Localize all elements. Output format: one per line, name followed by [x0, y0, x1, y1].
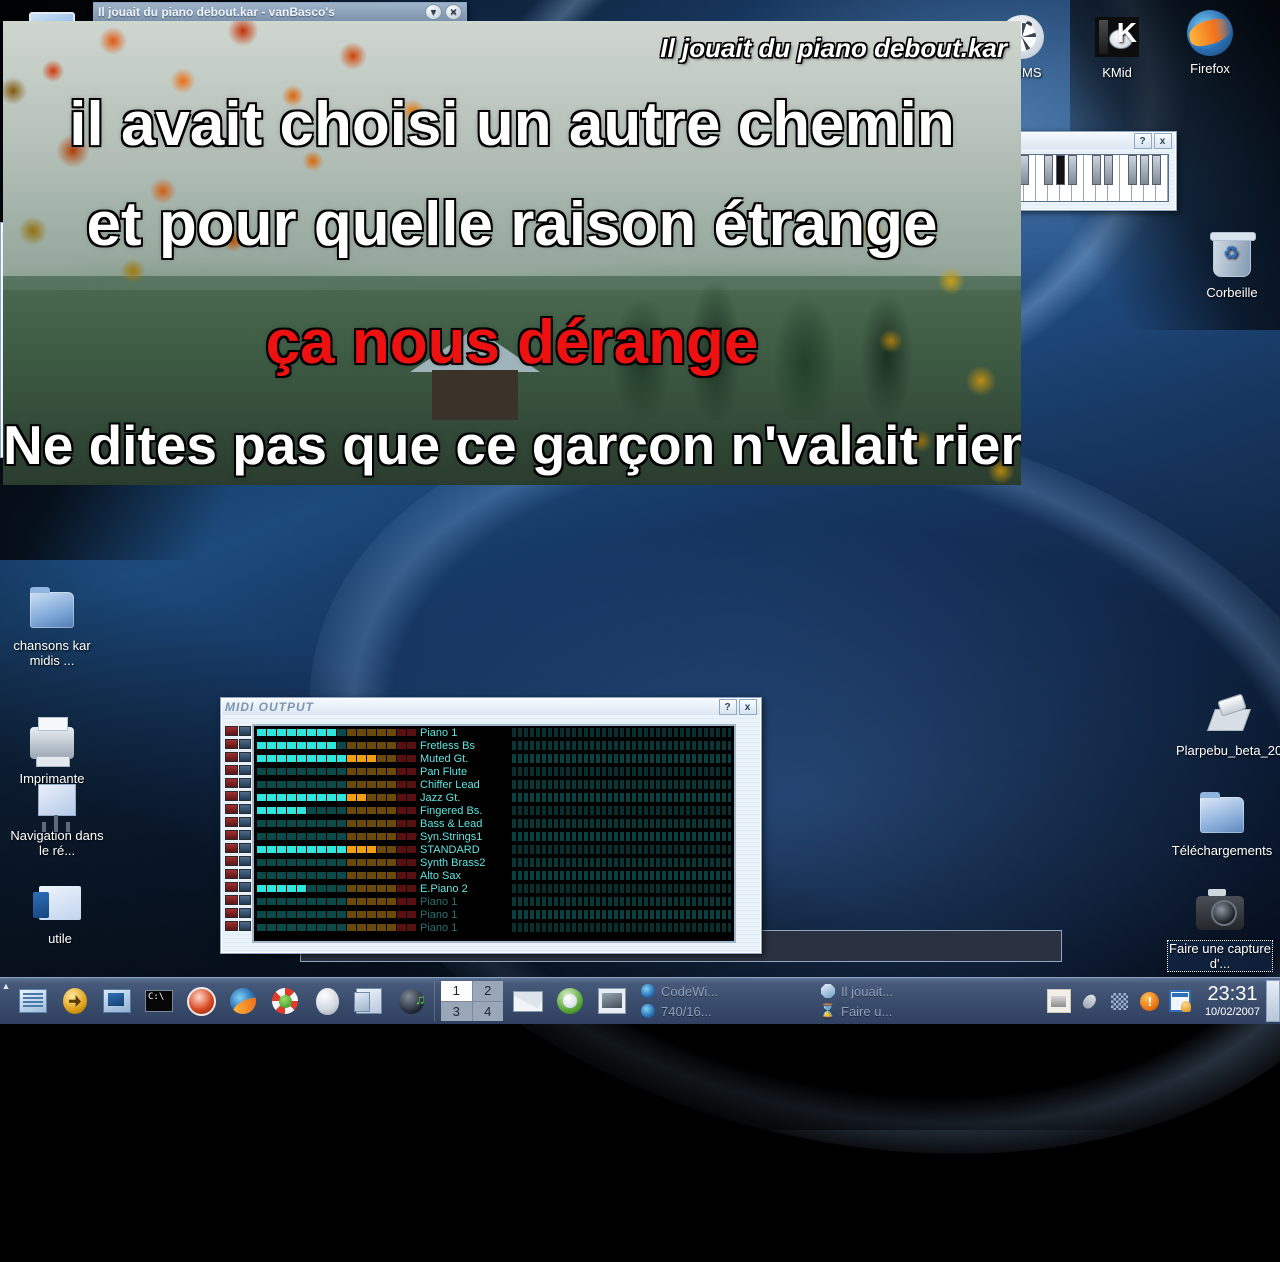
midi-channel-buttons[interactable]	[225, 815, 251, 828]
midi-channel-controls[interactable]	[225, 724, 251, 932]
firefox-icon	[639, 1003, 657, 1019]
midi-mute-button[interactable]	[225, 921, 238, 931]
midi-level-led	[287, 911, 296, 918]
midi-solo-button[interactable]	[239, 739, 252, 749]
desktop-icon-label: Firefox	[1158, 61, 1262, 76]
midi-channel-buttons[interactable]	[225, 854, 251, 867]
folder-icon	[8, 878, 112, 928]
midi-level-led	[287, 729, 296, 736]
desktop-icon-label: Corbeille	[1180, 285, 1280, 300]
midi-level-led	[397, 742, 406, 749]
midi-mute-button[interactable]	[225, 739, 238, 749]
midi-level-led	[407, 833, 416, 840]
midi-mute-button[interactable]	[225, 830, 238, 840]
lyric-line-4: Ne dites pas que ce garçon n'valait rien	[3, 413, 1021, 477]
midi-level-led	[277, 742, 286, 749]
midi-level-led	[377, 846, 386, 853]
midi-level-led	[267, 911, 276, 918]
midi-level-led	[307, 859, 316, 866]
piano-black-key[interactable]	[1020, 155, 1029, 185]
midi-level-led	[367, 833, 376, 840]
midi-channel-row: Fretless Bs	[254, 739, 734, 752]
midi-activity-graph	[512, 728, 731, 737]
midi-channel-row: Alto Sax	[254, 869, 734, 882]
midi-level-led	[357, 846, 366, 853]
midi-level-led	[347, 911, 356, 918]
midi-solo-button[interactable]	[239, 804, 252, 814]
midi-level-led	[277, 833, 286, 840]
midi-solo-button[interactable]	[239, 869, 252, 879]
midi-level-led	[387, 755, 396, 762]
midi-channel-buttons[interactable]	[225, 789, 251, 802]
midi-level-led	[327, 911, 336, 918]
printer-icon	[0, 718, 104, 768]
calendar-alarm-tray-icon[interactable]	[1169, 990, 1191, 1012]
midi-channel-row: E.Piano 2	[254, 882, 734, 895]
midi-level-led	[337, 859, 346, 866]
midi-level-led	[277, 924, 286, 931]
piano-black-key[interactable]	[1152, 155, 1161, 185]
midi-level-led	[337, 781, 346, 788]
midi-level-led	[407, 807, 416, 814]
midi-activity-graph	[512, 754, 731, 763]
midi-level-led	[387, 911, 396, 918]
midi-level-led	[367, 755, 376, 762]
midi-level-led	[257, 781, 266, 788]
camera-icon	[1168, 888, 1272, 938]
midi-level-led	[377, 820, 386, 827]
midi-level-led	[377, 924, 386, 931]
midi-channel-row: Muted Gt.	[254, 752, 734, 765]
midi-level-led	[407, 742, 416, 749]
midi-level-led	[367, 846, 376, 853]
midi-level-led	[377, 885, 386, 892]
task-button-740-16[interactable]: 740/16...	[639, 1003, 819, 1019]
midi-solo-button[interactable]	[239, 726, 252, 736]
midi-level-led	[337, 755, 346, 762]
midi-level-led	[257, 742, 266, 749]
midi-channel-row: Jazz Gt.	[254, 791, 734, 804]
task-button-faire-une-capture[interactable]: ⌛ Faire u...	[819, 1003, 999, 1019]
midi-mute-button[interactable]	[225, 908, 238, 918]
file-manager-icon[interactable]	[15, 983, 51, 1019]
midi-level-led	[257, 833, 266, 840]
midi-level-led	[267, 898, 276, 905]
midi-level-led	[387, 833, 396, 840]
taskbar-clock[interactable]: 23:31 10/02/2007	[1205, 984, 1260, 1018]
midi-level-led	[267, 807, 276, 814]
midi-level-led	[337, 872, 346, 879]
midi-activity-graph	[512, 793, 731, 802]
midi-channel-name: Piano 1	[420, 909, 512, 921]
desktop-icon-label: utile	[8, 931, 112, 946]
midi-level-led	[347, 859, 356, 866]
taskbar: ▲ C:\ ♫	[0, 977, 1280, 1024]
desktop-icon-plarpebu[interactable]: Plarpebu_beta_20	[1176, 690, 1280, 758]
kde-globe-icon[interactable]	[552, 983, 588, 1019]
desktop-icon-navigation-reseau[interactable]: Navigation dans le ré...	[5, 775, 109, 858]
midi-mute-button[interactable]	[225, 843, 238, 853]
midi-level-led	[277, 729, 286, 736]
midi-level-led	[337, 911, 346, 918]
task-label: CodeWi...	[661, 984, 718, 999]
stage-foliage-left	[3, 21, 513, 331]
midi-level-led	[287, 768, 296, 775]
midi-level-led	[367, 742, 376, 749]
piano-black-key[interactable]	[1056, 155, 1065, 185]
midi-mute-button[interactable]	[225, 726, 238, 736]
midi-level-led	[287, 807, 296, 814]
midi-level-led	[407, 911, 416, 918]
midi-level-led	[387, 898, 396, 905]
midi-level-led	[277, 911, 286, 918]
midi-level-led	[357, 859, 366, 866]
midi-channel-buttons[interactable]	[225, 841, 251, 854]
midi-level-led	[267, 872, 276, 879]
piano-black-key[interactable]	[1092, 155, 1101, 185]
midi-level-led	[337, 742, 346, 749]
midi-channel-buttons[interactable]	[225, 776, 251, 789]
midi-level-led	[387, 846, 396, 853]
printer-tray-icon[interactable]	[1047, 989, 1071, 1013]
firefox-icon	[639, 983, 657, 999]
midi-channel-buttons[interactable]	[225, 763, 251, 776]
midi-level-led	[297, 846, 306, 853]
midi-level-led	[287, 859, 296, 866]
midi-level-led	[327, 872, 336, 879]
midi-solo-button[interactable]	[239, 895, 252, 905]
midi-level-led	[347, 729, 356, 736]
close-button[interactable]: ✕	[445, 4, 462, 20]
desktop-pager[interactable]: 1 2 3 4	[441, 981, 503, 1021]
midi-level-led	[317, 924, 326, 931]
midi-level-led	[377, 911, 386, 918]
network-tray-icon[interactable]	[1109, 990, 1131, 1012]
midi-channel-buttons[interactable]	[225, 893, 251, 906]
midi-channel-buttons[interactable]	[225, 737, 251, 750]
midi-level-led	[307, 911, 316, 918]
midi-level-led	[267, 742, 276, 749]
midi-output-window[interactable]: MIDI OUTPUT ? x Piano 1Fretless BsMuted …	[220, 697, 762, 954]
midi-level-led	[377, 807, 386, 814]
midi-level-led	[307, 872, 316, 879]
piano-black-key[interactable]	[1140, 155, 1149, 185]
desktop-icon-corbeille[interactable]: Corbeille	[1180, 232, 1280, 300]
firefox-icon[interactable]	[225, 983, 261, 1019]
task-label: 740/16...	[661, 1004, 712, 1019]
clock-date: 10/02/2007	[1205, 1007, 1260, 1018]
midi-mute-button[interactable]	[225, 752, 238, 762]
piano-black-key[interactable]	[1068, 155, 1077, 185]
midi-level-led	[297, 833, 306, 840]
close-button[interactable]: x	[1154, 133, 1172, 149]
midi-level-led	[387, 781, 396, 788]
midi-level-led	[397, 807, 406, 814]
midi-level-led	[377, 729, 386, 736]
taskbar-task-list: CodeWi... Il jouait... 740/16... ⌛ Faire…	[633, 981, 1043, 1021]
midi-level-led	[327, 820, 336, 827]
documents-icon[interactable]	[351, 983, 387, 1019]
midi-level-led	[277, 885, 286, 892]
egg-icon[interactable]	[309, 983, 345, 1019]
midi-level-led	[387, 924, 396, 931]
midi-level-led	[357, 872, 366, 879]
folder-icon	[1170, 790, 1274, 840]
midi-channel-row: Piano 1	[254, 726, 734, 739]
piano-black-key[interactable]	[1128, 155, 1137, 185]
kmid-icon: K	[1065, 12, 1169, 62]
midi-level-led	[377, 755, 386, 762]
midi-level-led	[267, 833, 276, 840]
midi-channel-buttons[interactable]	[225, 880, 251, 893]
midi-level-meter	[256, 924, 416, 931]
alert-tray-icon[interactable]: !	[1139, 990, 1161, 1012]
audio-player-icon[interactable]: ♫	[393, 983, 429, 1019]
network-icon	[5, 775, 109, 825]
midi-level-led	[397, 885, 406, 892]
mail-icon[interactable]	[510, 983, 546, 1019]
midi-level-meter	[256, 898, 416, 905]
midi-level-led	[337, 833, 346, 840]
midi-level-led	[307, 898, 316, 905]
amber-orb-icon[interactable]	[57, 983, 93, 1019]
midi-solo-button[interactable]	[239, 921, 252, 931]
midi-channel-display: Piano 1Fretless BsMuted Gt.Pan FluteChif…	[252, 724, 736, 943]
midi-channel-buttons[interactable]	[225, 919, 251, 932]
midi-level-led	[287, 742, 296, 749]
midi-channel-name: Pan Flute	[420, 766, 512, 778]
midi-level-led	[327, 807, 336, 814]
player-titlebar[interactable]: Il jouait du piano debout.kar - vanBasco…	[94, 3, 466, 21]
midi-level-led	[257, 820, 266, 827]
midi-mute-button[interactable]	[225, 856, 238, 866]
midi-channel-buttons[interactable]	[225, 867, 251, 880]
midi-level-led	[397, 859, 406, 866]
midi-activity-graph	[512, 897, 731, 906]
midi-level-led	[257, 872, 266, 879]
midi-level-led	[257, 729, 266, 736]
lyric-line-3-active: ça nous dérange	[3, 311, 1021, 375]
trash-icon	[1180, 232, 1280, 282]
midi-channel-name: Syn.Strings1	[420, 831, 512, 843]
midi-level-led	[347, 833, 356, 840]
pager-desktop-2[interactable]: 2	[473, 981, 504, 1001]
close-button[interactable]: x	[739, 699, 757, 715]
midi-level-led	[307, 885, 316, 892]
midi-level-led	[337, 729, 346, 736]
midi-level-meter	[256, 729, 416, 736]
midi-level-led	[257, 794, 266, 801]
midi-level-led	[397, 781, 406, 788]
midi-level-led	[287, 846, 296, 853]
midi-solo-button[interactable]	[239, 817, 252, 827]
taskbar-collapse-handle[interactable]: ▲	[0, 981, 12, 1021]
midi-mute-button[interactable]	[225, 869, 238, 879]
midi-level-led	[317, 820, 326, 827]
midi-level-led	[367, 781, 376, 788]
pager-desktop-1[interactable]: 1	[441, 981, 472, 1001]
midi-level-led	[257, 768, 266, 775]
desktop-icon-utile[interactable]: utile	[8, 878, 112, 946]
minimize-button[interactable]: ▼	[425, 4, 442, 20]
midi-mute-button[interactable]	[225, 882, 238, 892]
midi-level-led	[347, 755, 356, 762]
vanbasco-icon	[819, 983, 837, 999]
midi-titlebar[interactable]: MIDI OUTPUT ? x	[222, 699, 760, 715]
midi-channel-name: Synth Brass2	[420, 857, 512, 869]
midi-channel-buttons[interactable]	[225, 750, 251, 763]
midi-level-led	[277, 820, 286, 827]
midi-level-led	[357, 755, 366, 762]
midi-level-led	[407, 781, 416, 788]
midi-mute-button[interactable]	[225, 817, 238, 827]
midi-level-led	[267, 820, 276, 827]
midi-level-led	[347, 742, 356, 749]
desktop-icon-chansons[interactable]: chansons kar midis ...	[0, 585, 104, 668]
midi-level-led	[267, 924, 276, 931]
midi-channel-name: Fretless Bs	[420, 740, 512, 752]
piano-black-key[interactable]	[1044, 155, 1053, 185]
midi-level-led	[377, 898, 386, 905]
show-desktop-button[interactable]	[1266, 980, 1280, 1022]
karaoke-stage: Il jouait du piano debout.kar il avait c…	[3, 21, 1021, 485]
midi-level-led	[327, 768, 336, 775]
midi-solo-button[interactable]	[239, 882, 252, 892]
video-icon[interactable]	[594, 983, 630, 1019]
midi-mute-button[interactable]	[225, 895, 238, 905]
midi-level-led	[347, 924, 356, 931]
midi-level-led	[347, 872, 356, 879]
midi-level-led	[267, 859, 276, 866]
midi-channel-name: Alto Sax	[420, 870, 512, 882]
midi-level-led	[277, 898, 286, 905]
midi-activity-graph	[512, 741, 731, 750]
midi-channel-name: E.Piano 2	[420, 883, 512, 895]
midi-level-led	[287, 820, 296, 827]
midi-level-led	[337, 768, 346, 775]
midi-solo-button[interactable]	[239, 908, 252, 918]
midi-level-led	[317, 755, 326, 762]
midi-level-led	[297, 898, 306, 905]
midi-activity-graph	[512, 884, 731, 893]
midi-level-led	[397, 794, 406, 801]
terminal-icon[interactable]: C:\	[141, 983, 177, 1019]
midi-level-led	[407, 794, 416, 801]
help-button[interactable]: ?	[719, 699, 737, 715]
midi-level-led	[297, 742, 306, 749]
midi-solo-button[interactable]	[239, 843, 252, 853]
midi-channel-name: Piano 1	[420, 896, 512, 908]
midi-level-led	[407, 729, 416, 736]
midi-channel-row: Synth Brass2	[254, 856, 734, 869]
desktop-icon-firefox[interactable]: Firefox	[1158, 8, 1262, 76]
midi-level-meter	[256, 807, 416, 814]
midi-channel-row: Piano 1	[254, 895, 734, 908]
midi-level-led	[387, 885, 396, 892]
pager-desktop-4[interactable]: 4	[473, 1002, 504, 1022]
desktop-icon-telechargements[interactable]: Téléchargements	[1170, 790, 1274, 858]
desktop-icon-kmid[interactable]: K KMid	[1065, 12, 1169, 80]
midi-level-led	[267, 846, 276, 853]
midi-solo-button[interactable]	[239, 752, 252, 762]
midi-mute-button[interactable]	[225, 765, 238, 775]
midi-level-led	[267, 794, 276, 801]
midi-channel-row: Pan Flute	[254, 765, 734, 778]
midi-level-led	[277, 846, 286, 853]
midi-level-led	[347, 807, 356, 814]
midi-channel-buttons[interactable]	[225, 828, 251, 841]
midi-mute-button[interactable]	[225, 778, 238, 788]
midi-level-led	[377, 859, 386, 866]
midi-solo-button[interactable]	[239, 856, 252, 866]
karaoke-window[interactable]: vanBasco's Karaoke Player - Karaoke Il j…	[0, 0, 1028, 492]
midi-level-led	[387, 768, 396, 775]
desktop-icon-faire-une-capture[interactable]: Faire une capture d'...	[1168, 888, 1272, 971]
midi-level-led	[297, 859, 306, 866]
piano-black-key[interactable]	[1104, 155, 1113, 185]
midi-level-led	[407, 924, 416, 931]
midi-level-led	[327, 794, 336, 801]
midi-level-led	[307, 755, 316, 762]
midi-solo-button[interactable]	[239, 830, 252, 840]
midi-mute-button[interactable]	[225, 804, 238, 814]
midi-channel-buttons[interactable]	[225, 906, 251, 919]
midi-level-led	[307, 924, 316, 931]
midi-level-led	[397, 898, 406, 905]
midi-level-led	[287, 898, 296, 905]
midi-solo-button[interactable]	[239, 778, 252, 788]
midi-level-led	[327, 859, 336, 866]
midi-level-led	[327, 846, 336, 853]
midi-channel-row: STANDARD	[254, 843, 734, 856]
midi-solo-button[interactable]	[239, 791, 252, 801]
midi-activity-graph	[512, 923, 731, 932]
pager-desktop-3[interactable]: 3	[441, 1002, 472, 1022]
midi-channel-row: Fingered Bs.	[254, 804, 734, 817]
midi-level-led	[317, 898, 326, 905]
midi-level-led	[297, 885, 306, 892]
midi-level-led	[317, 872, 326, 879]
midi-mute-button[interactable]	[225, 791, 238, 801]
midi-level-led	[377, 768, 386, 775]
midi-level-led	[297, 781, 306, 788]
midi-level-meter	[256, 768, 416, 775]
midi-level-led	[257, 859, 266, 866]
midi-level-meter	[256, 872, 416, 879]
midi-level-led	[397, 833, 406, 840]
midi-level-led	[357, 781, 366, 788]
task-button-il-jouait[interactable]: Il jouait...	[819, 983, 999, 999]
midi-solo-button[interactable]	[239, 765, 252, 775]
midi-level-led	[357, 885, 366, 892]
lyric-line-1: il avait choisi un autre chemin	[3, 93, 1021, 157]
midi-channel-row: Piano 1	[254, 921, 734, 934]
midi-level-led	[257, 898, 266, 905]
midi-level-led	[297, 820, 306, 827]
display-settings-icon[interactable]	[99, 983, 135, 1019]
midi-level-led	[267, 755, 276, 762]
midi-level-led	[347, 768, 356, 775]
midi-level-led	[287, 781, 296, 788]
midi-channel-buttons[interactable]	[225, 802, 251, 815]
help-button[interactable]: ?	[1134, 133, 1152, 149]
midi-channel-buttons[interactable]	[225, 724, 251, 737]
mouse-tray-icon[interactable]	[1079, 990, 1101, 1012]
help-lifebuoy-icon[interactable]	[267, 983, 303, 1019]
midi-level-led	[397, 755, 406, 762]
cd-burner-icon[interactable]	[183, 983, 219, 1019]
task-button-codewise[interactable]: CodeWi...	[639, 983, 819, 999]
